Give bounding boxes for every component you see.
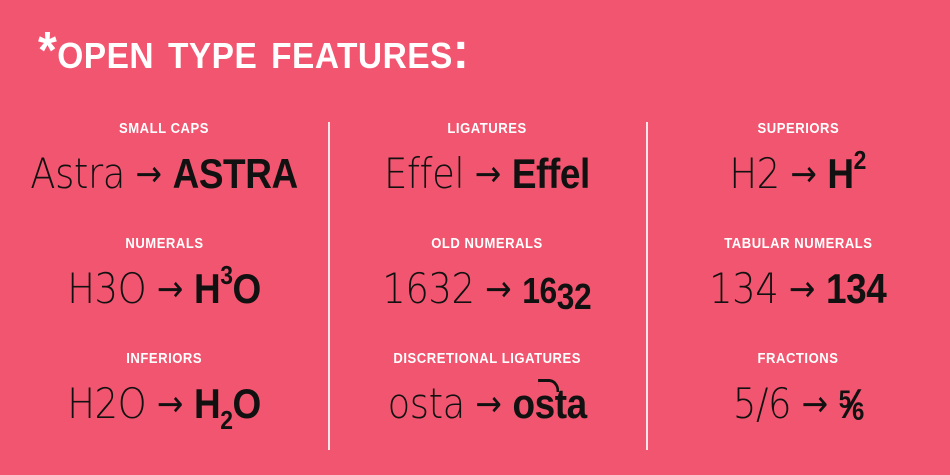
superior-base: H [194,265,220,312]
feature-label: INFERIORS [126,352,202,367]
feature-cell-discretional-ligatures: DISCRETIONAL LIGATURES osta → osta [328,342,646,457]
feature-after: 134 [826,268,886,310]
feature-cell-inferiors: INFERIORS H2O → H2O [0,342,328,457]
column-divider-2 [646,122,648,450]
feature-after: H2O [194,383,261,425]
superior-digit: 2 [854,145,866,175]
arrow-icon: → [791,157,818,193]
feature-label: FRACTIONS [757,352,838,367]
inferior-digit: 2 [220,405,232,435]
arrow-icon: → [157,387,184,423]
feature-after: 5⁄6 [838,383,863,425]
feature-label: DISCRETIONAL LIGATURES [393,352,581,367]
feature-before: Effel [384,153,464,195]
feature-before: H2 [730,153,780,195]
feature-demo: H2O → H2O [67,383,261,425]
feature-demo: H3O → H3O [67,268,261,310]
feature-after: 1632 [523,268,592,310]
feature-label: OLD NUMERALS [431,237,543,252]
feature-cell-small-caps: SMALL CAPS Astra → ASTRA [0,112,328,227]
feature-demo: Astra → ASTRA [30,153,297,195]
arrow-icon: → [475,387,502,423]
feature-before: H3O [67,268,146,310]
st-ligature-letters: st [534,380,566,427]
inferior-tail: O [233,380,261,427]
feature-cell-ligatures: LIGATURES Effel → Effel [328,112,646,227]
superior-base: H [828,150,854,197]
ligature-prefix: o [512,380,534,427]
fraction-denominator: 6 [852,398,864,426]
feature-before: 1632 [383,268,475,310]
title-asterisk: * [38,22,57,80]
feature-after: Effel [512,153,590,195]
feature-after: H2 [828,153,867,195]
feature-demo: osta → osta [387,383,586,425]
feature-demo: 134 → 134 [709,268,886,310]
feature-demo: H2 → H2 [730,153,867,195]
arrow-icon: → [475,157,502,193]
oldstyle-digit: 3 [557,279,574,315]
arrow-icon: → [789,272,816,308]
features-grid: SMALL CAPS Astra → ASTRA LIGATURES Effel… [0,112,950,457]
feature-label: TABULAR NUMERALS [724,237,872,252]
feature-after: osta [512,383,586,425]
feature-after: H3O [194,268,261,310]
feature-cell-superiors: SUPERIORS H2 → H2 [646,112,950,227]
feature-label: NUMERALS [125,237,203,252]
opentype-features-poster: { "page": { "background_color": "#f2556f… [0,0,950,475]
feature-cell-numerals: NUMERALS H3O → H3O [0,227,328,342]
superior-digit: 3 [220,260,232,290]
feature-cell-fractions: FRACTIONS 5/6 → 5⁄6 [646,342,950,457]
st-ligature: st [534,383,566,425]
page-title-bar: *Open Type Features: [38,20,502,82]
inferior-base: H [194,380,220,427]
feature-before: osta [387,383,464,425]
page-title: *Open Type Features: [38,25,469,77]
oldstyle-digit: 6 [540,273,557,309]
oldstyle-digit: 1 [523,273,540,309]
feature-before: 5/6 [733,383,791,425]
feature-after: ASTRA [173,153,298,195]
arrow-icon: → [801,387,828,423]
ligature-suffix: a [566,380,586,427]
feature-cell-old-numerals: OLD NUMERALS 1632 → 1632 [328,227,646,342]
feature-demo: Effel → Effel [384,153,590,195]
feature-label: SMALL CAPS [119,122,209,137]
title-text: Open Type Features: [57,22,469,80]
arrow-icon: → [157,272,184,308]
feature-demo: 5/6 → 5⁄6 [733,383,864,425]
arrow-icon: → [485,272,512,308]
feature-before: Astra [30,153,125,195]
feature-label: LIGATURES [447,122,526,137]
feature-before: H2O [67,383,146,425]
fraction-numerator: 5 [838,386,850,414]
column-divider-1 [328,122,330,450]
arrow-icon: → [136,157,163,193]
feature-label: SUPERIORS [757,122,839,137]
feature-before: 134 [709,268,778,310]
feature-demo: 1632 → 1632 [383,268,592,310]
oldstyle-digit: 2 [574,279,591,315]
feature-cell-tabular-numerals: TABULAR NUMERALS 134 → 134 [646,227,950,342]
superior-tail: O [233,265,261,312]
